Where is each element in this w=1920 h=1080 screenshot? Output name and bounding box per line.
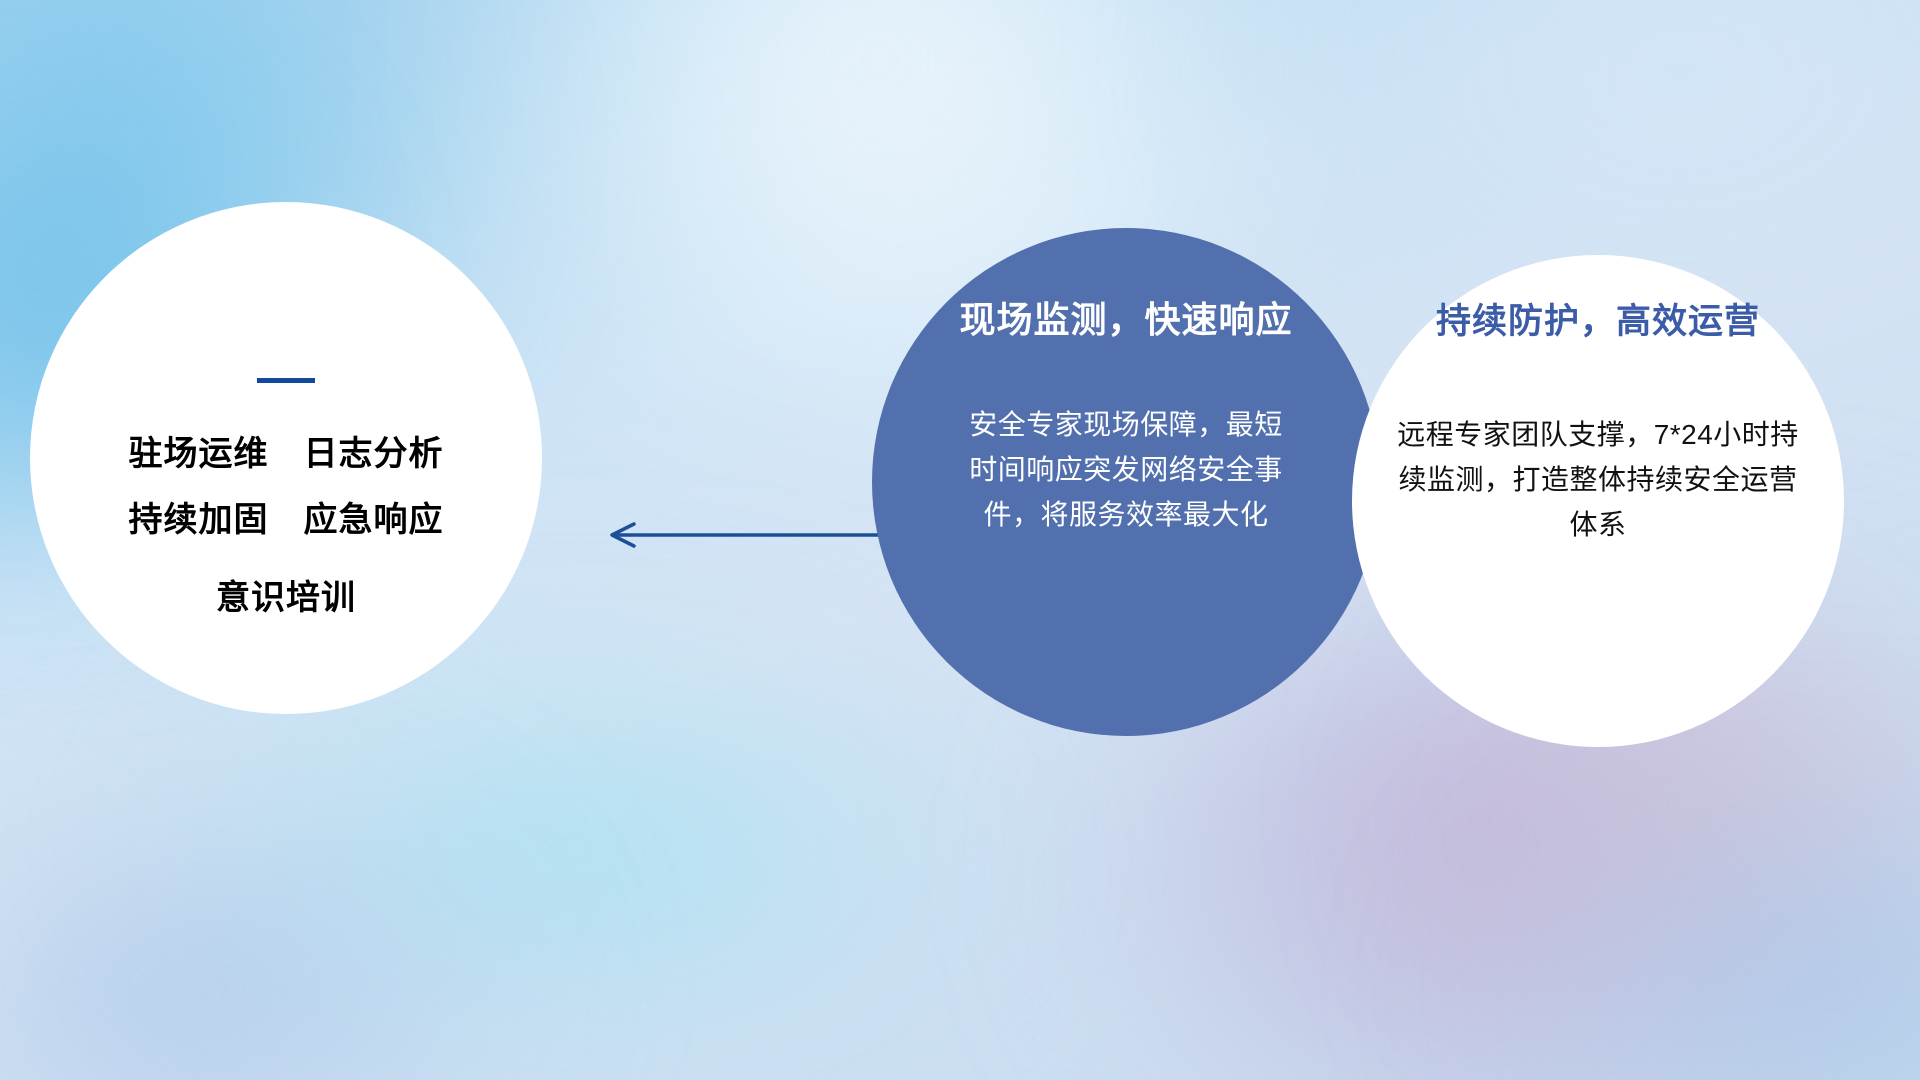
- left-circle-line-2: 持续加固 应急响应: [129, 503, 444, 537]
- left-circle-line-3: 意识培训: [216, 581, 356, 615]
- left-service-circle[interactable]: 驻场运维 日志分析 持续加固 应急响应 意识培训: [30, 202, 542, 714]
- middle-circle-body: 安全专家现场保障，最短时间响应突发网络安全事件，将服务效率最大化: [965, 402, 1287, 538]
- middle-circle-content: 现场监测，快速响应 安全专家现场保障，最短时间响应突发网络安全事件，将服务效率最…: [872, 228, 1380, 736]
- left-circle-content: 驻场运维 日志分析 持续加固 应急响应 意识培训: [30, 202, 542, 714]
- connector-arrow-icon: [600, 515, 900, 555]
- left-circle-line-1: 驻场运维 日志分析: [129, 437, 444, 471]
- right-circle-title: 持续防护，高效运营: [1436, 303, 1760, 342]
- slide-canvas: 驻场运维 日志分析 持续加固 应急响应 意识培训 现场监测，快速响应 安全专家现…: [0, 0, 1920, 1080]
- right-operations-circle[interactable]: 持续防护，高效运营 远程专家团队支撑，7*24小时持续监测，打造整体持续安全运营…: [1352, 255, 1844, 747]
- right-circle-content: 持续防护，高效运营 远程专家团队支撑，7*24小时持续监测，打造整体持续安全运营…: [1352, 255, 1844, 747]
- middle-onsite-circle[interactable]: 现场监测，快速响应 安全专家现场保障，最短时间响应突发网络安全事件，将服务效率最…: [872, 228, 1380, 736]
- middle-circle-title: 现场监测，快速响应: [959, 300, 1292, 340]
- right-circle-body: 远程专家团队支撑，7*24小时持续监测，打造整体持续安全运营体系: [1392, 412, 1804, 548]
- left-circle-divider-rule: [257, 378, 315, 383]
- connector-arrow: [600, 515, 900, 555]
